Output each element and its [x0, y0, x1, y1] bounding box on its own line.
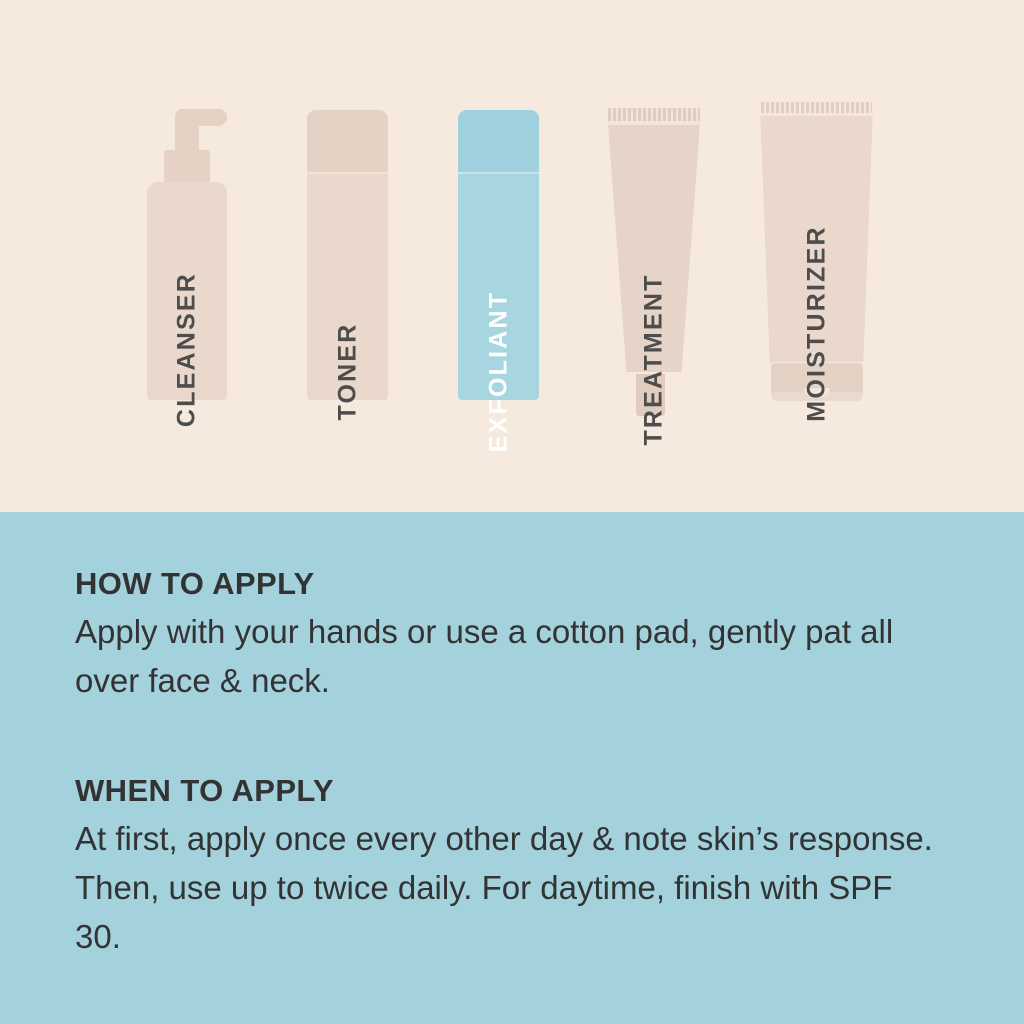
product-moisturizer[interactable]: MOISTURIZER — [758, 102, 875, 400]
tube-crimp-icon — [761, 102, 872, 113]
product-exfoliant[interactable]: EXFOLIANT — [458, 110, 539, 400]
pump-neck-icon — [175, 122, 199, 152]
instruction-block-when-to-apply: WHEN TO APPLY At first, apply once every… — [75, 773, 975, 961]
instruction-body-when-to-apply: At first, apply once every other day & n… — [75, 814, 945, 961]
product-row: CLEANSER TONER EXFOLIANT — [0, 0, 1024, 512]
instructions-panel: HOW TO APPLY Apply with your hands or us… — [0, 512, 1024, 1024]
product-label-treatment: TREATMENT — [640, 273, 669, 445]
product-treatment[interactable]: TREATMENT — [608, 108, 700, 400]
product-label-toner: TONER — [333, 322, 362, 420]
crimp-seam-line — [608, 121, 700, 125]
product-label-exfoliant: EXFOLIANT — [484, 291, 513, 452]
product-label-cleanser: CLEANSER — [173, 272, 202, 427]
product-toner[interactable]: TONER — [307, 110, 388, 400]
product-cleanser[interactable]: CLEANSER — [147, 102, 227, 400]
cap-seam-line — [458, 172, 539, 174]
product-label-moisturizer: MOISTURIZER — [802, 225, 831, 421]
tube-crimp-icon — [608, 108, 700, 121]
instruction-heading-when-to-apply: WHEN TO APPLY — [75, 773, 975, 809]
instruction-block-how-to-apply: HOW TO APPLY Apply with your hands or us… — [75, 566, 975, 705]
crimp-seam-line — [761, 113, 872, 116]
bottle-cap-icon — [458, 110, 539, 172]
instruction-body-how-to-apply: Apply with your hands or use a cotton pa… — [75, 607, 945, 705]
product-lineup-panel: CLEANSER TONER EXFOLIANT — [0, 0, 1024, 512]
bottle-cap-icon — [307, 110, 388, 172]
instruction-heading-how-to-apply: HOW TO APPLY — [75, 566, 975, 602]
cap-seam-line — [307, 172, 388, 174]
pump-collar-icon — [164, 150, 210, 186]
skincare-routine-infographic: CLEANSER TONER EXFOLIANT — [0, 0, 1024, 1024]
